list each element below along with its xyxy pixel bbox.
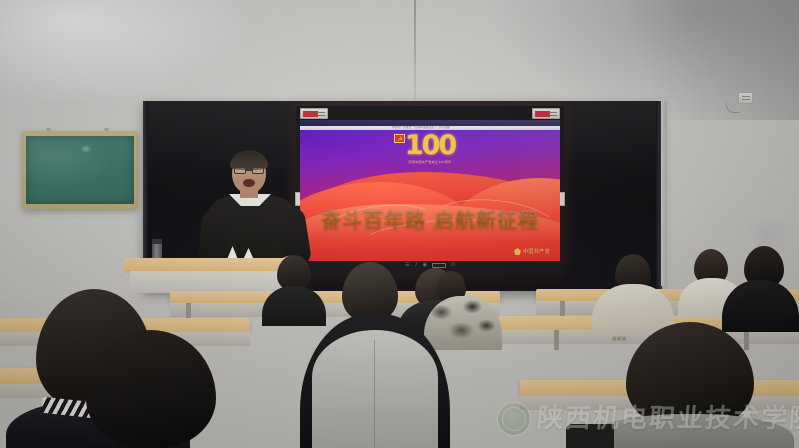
list-item: [342, 262, 398, 322]
chalkboard-surface: [26, 136, 134, 204]
watermark-text: 陕西机电职业技术学院: [536, 404, 799, 434]
bezel-badge-right: [532, 108, 560, 119]
bezel-badge-left: [300, 108, 328, 119]
grey-hoodie: [312, 330, 438, 448]
watermark: 陕西机电职业技术学院: [497, 402, 799, 436]
volume-icon[interactable]: ♪: [414, 263, 417, 268]
smart-screen[interactable]: 中国共产党成立一百周年主题宣讲 — 学习专题 100 ☭ 庆祝中国共产党成立10…: [296, 106, 564, 274]
hoodie-seam: [374, 340, 375, 448]
wall-mounted-bracket: [738, 92, 753, 104]
panel-right-trim: [661, 101, 667, 286]
menu-icon[interactable]: ☰: [405, 263, 409, 268]
slide-corner-logo: 中国共产党: [514, 248, 550, 255]
slide-corner-logo-text: 中国共产党: [523, 249, 550, 255]
list-item: [86, 330, 216, 448]
hammer-sickle-icon: ☭: [394, 134, 405, 143]
emblem-number: 100: [405, 132, 455, 159]
power-icon[interactable]: ⏻: [451, 263, 455, 268]
desk-leg: [554, 330, 559, 350]
green-chalkboard: [22, 131, 138, 209]
slide-headline: 奋斗百年路 启航新征程: [300, 208, 560, 232]
hoodie-logo: ■■■: [612, 336, 634, 342]
chalk-smudge: [80, 145, 92, 153]
input-icon[interactable]: ◉: [423, 263, 427, 268]
podium-front: [130, 271, 298, 293]
school-seal-icon: [497, 402, 531, 436]
wall-seam: [414, 0, 416, 108]
projected-slide: 中国共产党成立一百周年主题宣讲 — 学习专题 100 ☭ 庆祝中国共产党成立10…: [300, 120, 560, 261]
presenter-mouth: [243, 179, 255, 187]
desk-leg: [744, 330, 749, 350]
party-emblem-icon: [514, 248, 521, 255]
desk-leg: [186, 303, 191, 319]
cpc-centenary-emblem: 100 ☭ 庆祝中国共产党成立100周年: [392, 132, 468, 174]
glasses-icon: [234, 167, 264, 174]
classroom-photo: 中国共产党成立一百周年主题宣讲 — 学习专题 100 ☭ 庆祝中国共产党成立10…: [0, 0, 799, 448]
desk-leg: [560, 301, 565, 317]
